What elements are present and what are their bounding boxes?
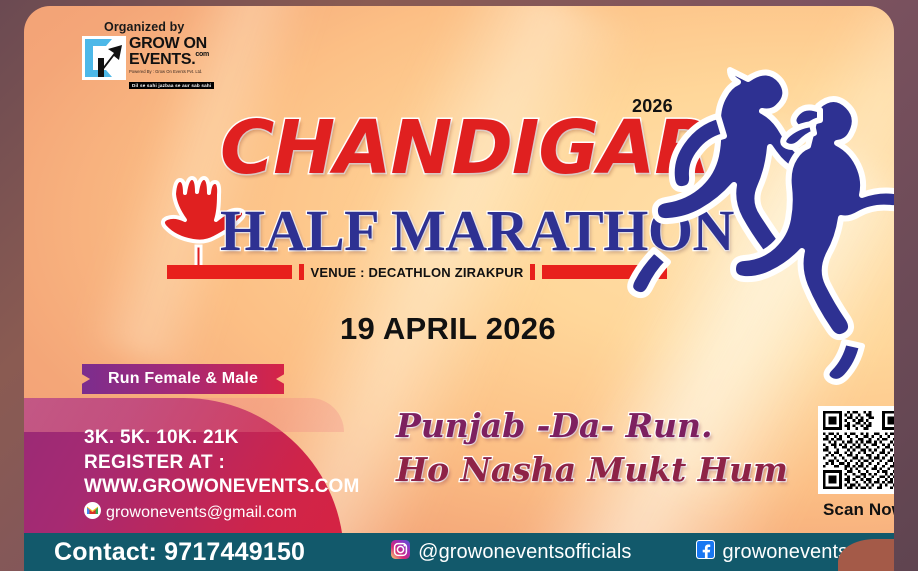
logo-tagline-strip: Dil se sahi jazbaa se aur sab sahi	[129, 82, 214, 89]
grow-on-events-logo: GROW ON EVENTS.com Powered By : Grow On …	[82, 36, 242, 92]
register-at-label: REGISTER AT :	[84, 451, 359, 476]
logo-fine-print: Powered By : Grow On Events Pvt. Ltd.	[129, 70, 214, 75]
email-row[interactable]: growonevents@gmail.com	[84, 502, 359, 524]
contact-email: growonevents@gmail.com	[106, 504, 297, 522]
instagram-handle-row[interactable]: @growoneventsofficials	[391, 540, 631, 564]
qr-code-image[interactable]	[818, 406, 894, 494]
qr-caption: Scan Now	[818, 500, 894, 520]
event-date: 19 APRIL 2026	[340, 311, 556, 347]
logo-line-2: EVENTS.com	[129, 52, 214, 68]
logo-line-1: GROW ON	[129, 36, 214, 52]
facebook-icon	[696, 540, 715, 564]
gmail-icon	[84, 502, 101, 524]
organizer-logo-block: Organized by GROW ON EVENTS.com Powered …	[82, 20, 242, 92]
venue-label: VENUE : DECATHLON ZIRAKPUR	[311, 265, 524, 280]
registration-block: 3K. 5K. 10K. 21K REGISTER AT : WWW.GROWO…	[84, 426, 359, 524]
logo-domain-suffix: com	[195, 52, 209, 59]
instagram-icon	[391, 540, 410, 564]
race-distances: 3K. 5K. 10K. 21K	[84, 426, 359, 451]
grow-on-logo-text: GROW ON EVENTS.com Powered By : Grow On …	[129, 36, 214, 92]
organized-by-label: Organized by	[104, 20, 242, 34]
facebook-handle-row[interactable]: growonevents	[696, 540, 849, 564]
instagram-handle: @growoneventsofficials	[418, 541, 631, 564]
tagline-line-1: Punjab -Da- Run.	[396, 404, 788, 448]
tagline-line-2: Ho Nasha Mukt Hum	[396, 448, 788, 492]
venue-bar-left-rule	[167, 265, 292, 279]
facebook-handle: growonevents	[723, 541, 849, 564]
venue-bar-tick	[299, 264, 304, 280]
event-poster: Organized by GROW ON EVENTS.com Powered …	[24, 6, 894, 571]
event-tagline: Punjab -Da- Run. Ho Nasha Mukt Hum	[396, 404, 788, 491]
grow-on-logo-icon	[82, 36, 126, 80]
run-category-ribbon: Run Female & Male	[82, 364, 284, 394]
runners-silhouette-illustration	[622, 54, 894, 399]
venue-bar: VENUE : DECATHLON ZIRAKPUR	[167, 264, 667, 280]
venue-bar-tick	[530, 264, 535, 280]
registration-website[interactable]: WWW.GROWONEVENTS.COM	[84, 475, 359, 500]
contact-phone[interactable]: Contact: 9717449150	[54, 538, 305, 567]
qr-block[interactable]: Scan Now	[818, 406, 894, 520]
footer-contact-bar: Contact: 9717449150	[24, 533, 894, 571]
